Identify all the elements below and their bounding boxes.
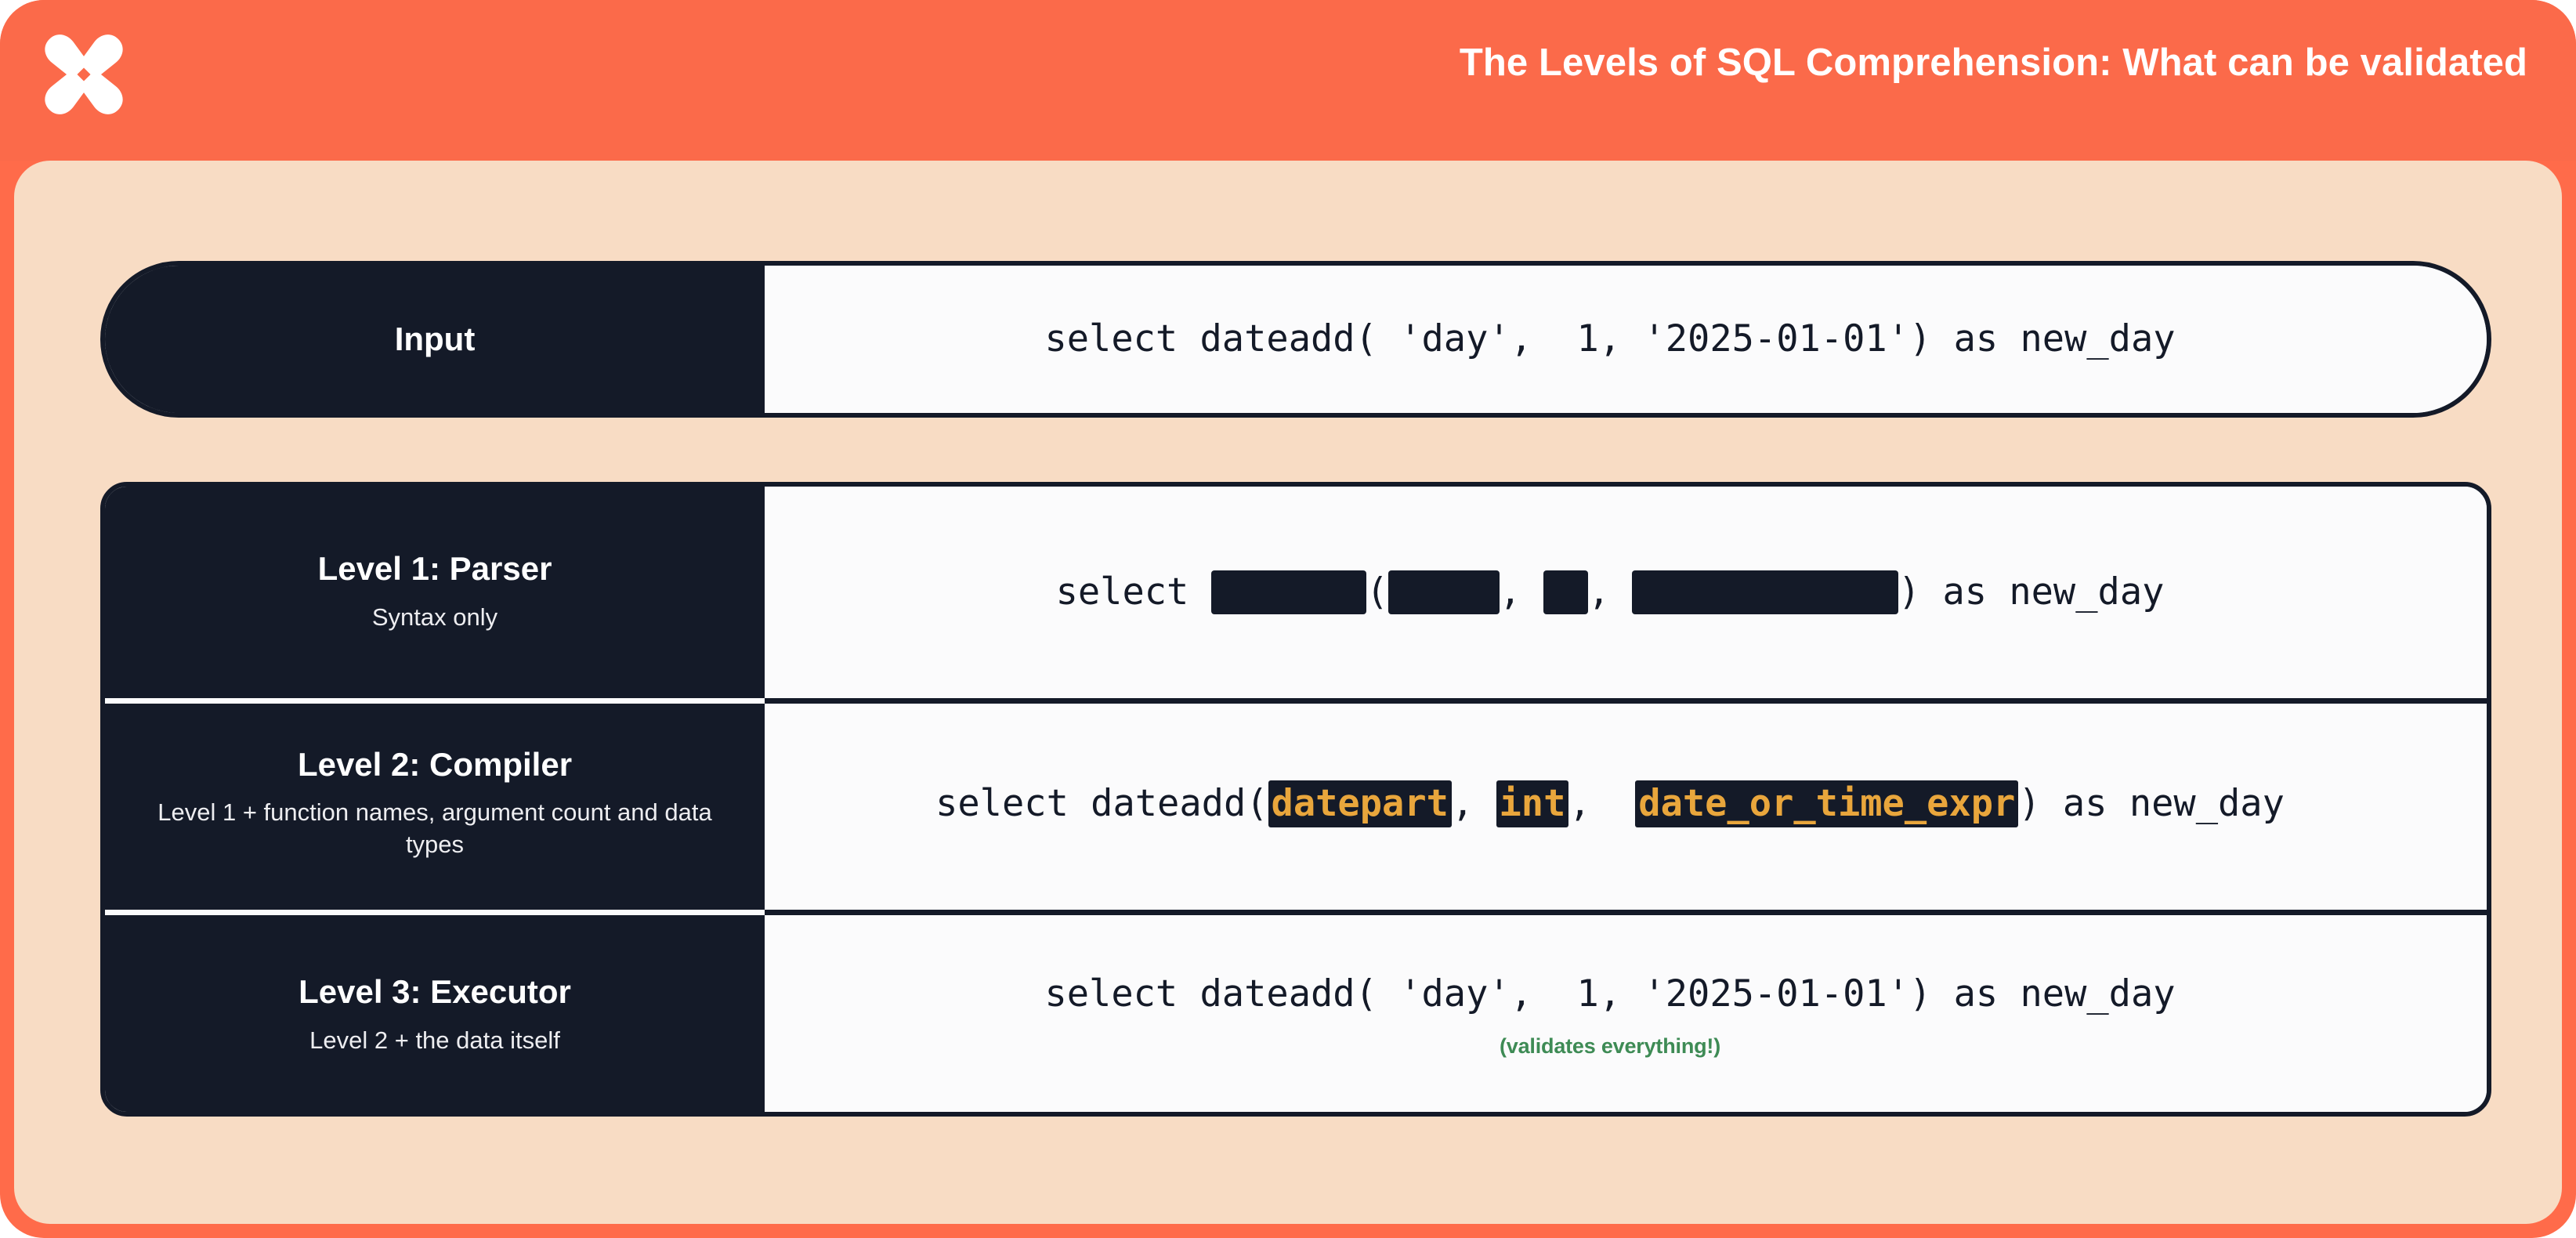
levels-card: Level 1: Parser Syntax only select datea… <box>100 482 2491 1117</box>
highlighted-token: date_or_time_expr <box>1635 780 2018 827</box>
code-text: ) as new_day <box>1898 570 2165 614</box>
level-3-code-cell: select dateadd( 'day', 1, '2025-01-01') … <box>765 910 2487 1117</box>
highlighted-token: datepart <box>1268 780 1452 827</box>
level-1-title: Level 1: Parser <box>318 551 552 587</box>
code-text: select dateadd( 'day', 1, '2025-01-01') … <box>1044 972 2175 1015</box>
code-text: select dateadd( <box>935 782 1268 825</box>
level-2-sql-code: select dateadd(datepart, int, date_or_ti… <box>935 780 2285 827</box>
highlighted-token: int <box>1496 780 1569 827</box>
level-3-sql-code: select dateadd( 'day', 1, '2025-01-01') … <box>1044 972 2175 1016</box>
level-3-subtitle: Level 2 + the data itself <box>309 1025 560 1057</box>
input-code-cell: select dateadd( 'day', 1, '2025-01-01') … <box>765 266 2487 413</box>
level-row: Level 3: Executor Level 2 + the data its… <box>105 910 2487 1117</box>
code-text: select <box>1056 570 1211 614</box>
level-2-subtitle: Level 1 + function names, argument count… <box>135 797 735 861</box>
level-row: Level 1: Parser Syntax only select datea… <box>105 487 2487 698</box>
row-divider-1 <box>765 698 2487 704</box>
level-1-label-cell: Level 1: Parser Syntax only <box>105 487 765 698</box>
page-title: The Levels of SQL Comprehension: What ca… <box>1460 41 2527 85</box>
level-1-sql-code: select dateadd('day', 1, '2025-01-01') a… <box>1056 570 2165 614</box>
code-text: , <box>1588 570 1633 614</box>
redacted-token: 'day' <box>1388 570 1499 614</box>
level-2-label-cell: Level 2: Compiler Level 1 + function nam… <box>105 698 765 910</box>
level-2-code-cell: select dateadd(datepart, int, date_or_ti… <box>765 698 2487 910</box>
content-panel: Input select dateadd( 'day', 1, '2025-01… <box>14 161 2562 1224</box>
level-3-title: Level 3: Executor <box>298 974 571 1010</box>
code-text: select dateadd( 'day', 1, '2025-01-01') … <box>1044 317 2175 360</box>
redacted-token: dateadd <box>1211 570 1366 614</box>
code-text: , <box>1452 782 1496 825</box>
input-card: Input select dateadd( 'day', 1, '2025-01… <box>100 261 2491 418</box>
label-gap-1 <box>105 698 765 704</box>
level-2-title: Level 2: Compiler <box>298 747 572 783</box>
row-divider-2 <box>765 910 2487 915</box>
butterfly-x-logo-icon <box>36 27 132 122</box>
level-3-note: (validates everything!) <box>1500 1034 1720 1059</box>
redacted-token: '2025-01-01' <box>1632 570 1898 614</box>
label-gap-2 <box>105 910 765 915</box>
redacted-token: 1 <box>1543 570 1588 614</box>
level-row: Level 2: Compiler Level 1 + function nam… <box>105 698 2487 910</box>
input-label-cell: Input <box>105 266 765 413</box>
level-1-code-cell: select dateadd('day', 1, '2025-01-01') a… <box>765 487 2487 698</box>
level-3-label-cell: Level 3: Executor Level 2 + the data its… <box>105 910 765 1117</box>
header-bar: The Levels of SQL Comprehension: What ca… <box>0 0 2576 161</box>
code-text: ( <box>1366 570 1388 614</box>
input-sql-code: select dateadd( 'day', 1, '2025-01-01') … <box>1044 317 2175 361</box>
code-text: , <box>1500 570 1544 614</box>
code-text: , <box>1568 782 1635 825</box>
input-label: Input <box>395 320 476 358</box>
infographic-root: The Levels of SQL Comprehension: What ca… <box>0 0 2576 1238</box>
code-text: ) as new_day <box>2018 782 2285 825</box>
level-1-subtitle: Syntax only <box>372 602 497 634</box>
